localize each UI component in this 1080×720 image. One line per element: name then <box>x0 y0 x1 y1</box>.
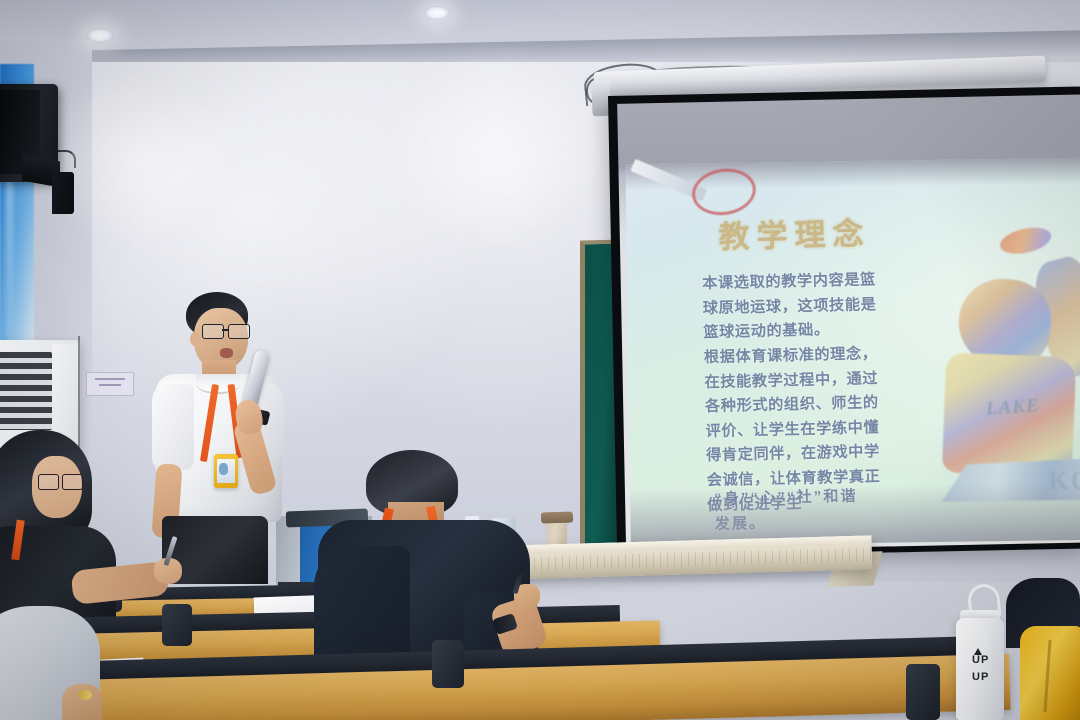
classroom-photo-scene: 教学理念 本课选取的教学内容是篮 球原地运球，这项技能是 篮球运动的基础。 根据… <box>0 0 1080 720</box>
woman-glasses-lens-right <box>62 474 83 490</box>
desk-armrest-middle <box>162 604 192 646</box>
bottle-label-line-2: UP <box>972 671 989 683</box>
presenter-ear <box>190 332 200 346</box>
right-edge-attendee <box>1006 578 1080 720</box>
basketball-graphic <box>998 223 1054 258</box>
ac-vent-louvers <box>0 352 52 430</box>
wall-light-pool-right <box>380 44 610 254</box>
glasses-lens-left <box>202 324 224 339</box>
presenter-id-badge <box>214 454 238 488</box>
woman-glasses <box>38 474 82 488</box>
ceiling-downlight-left <box>86 28 114 43</box>
bottle-label-line-1: UP <box>972 654 989 666</box>
presenter-glasses <box>202 324 250 337</box>
speaker-mount-arm <box>52 172 74 214</box>
wall-notice-sign <box>86 372 134 396</box>
desk-armrest-front-right <box>906 664 940 720</box>
projection-screen-frame: 教学理念 本课选取的教学内容是篮 球原地运球，这项技能是 篮球运动的基础。 根据… <box>608 87 1080 558</box>
jersey-text: LAKE <box>986 395 1041 421</box>
slide-title: 教学理念 <box>718 208 871 257</box>
kobe-bryant-lakers-illustration: LAKE KO <box>928 232 1080 504</box>
badge-photo <box>219 463 228 475</box>
ceiling-downlight-right <box>424 6 450 20</box>
front-left-attendee-ring <box>78 690 92 700</box>
projected-slide: 教学理念 本课选取的教学内容是篮 球原地运球，这项技能是 篮球运动的基础。 根据… <box>626 158 1080 546</box>
slide-body-text: 本课选取的教学内容是篮 球原地运球，这项技能是 篮球运动的基础。 根据体育课标准… <box>702 267 930 518</box>
projection-screen-surface: 教学理念 本课选取的教学内容是篮 球原地运球，这项技能是 篮球运动的基础。 根据… <box>617 95 1080 552</box>
presenter-mouth <box>220 348 233 358</box>
glasses-lens-right <box>228 324 250 339</box>
water-bottle-label: UPUP <box>972 652 989 686</box>
desk-armrest-front <box>432 640 464 688</box>
woman-glasses-lens-left <box>38 474 59 490</box>
